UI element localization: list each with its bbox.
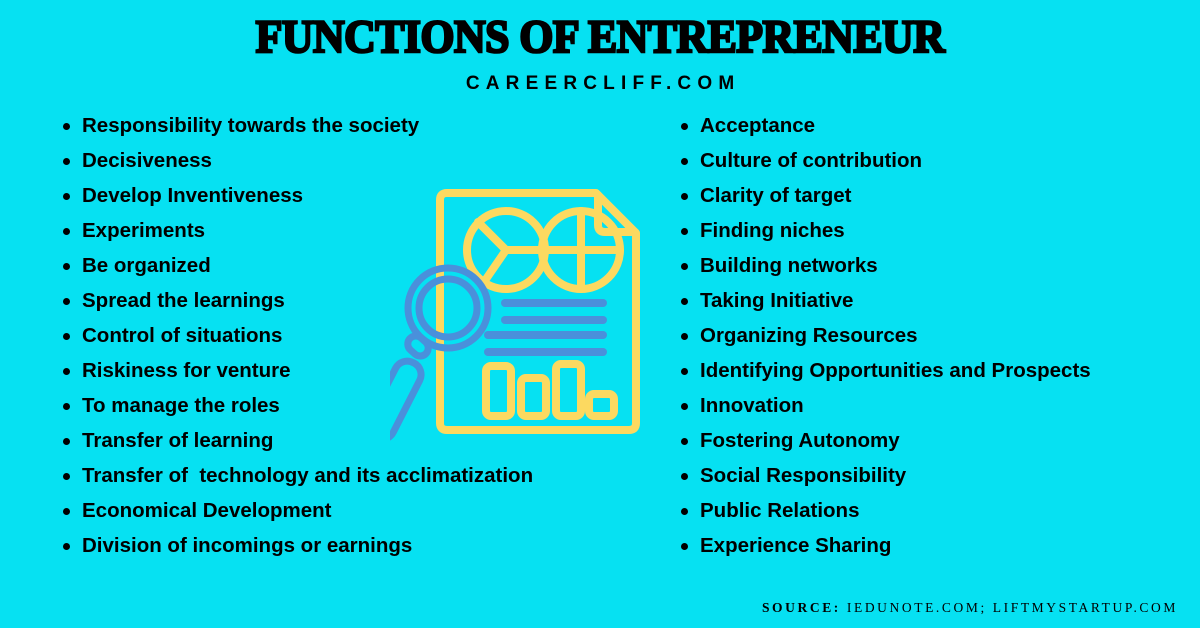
list-item: Clarity of target (680, 178, 1190, 213)
list-item: Fostering Autonomy (680, 423, 1190, 458)
list-item: Culture of contribution (680, 143, 1190, 178)
list-item: Finding niches (680, 213, 1190, 248)
list-item: Public Relations (680, 493, 1190, 528)
list-item: Transfer of technology and its acclimati… (62, 458, 662, 493)
list-item: Division of incomings or earnings (62, 528, 662, 563)
right-function-list: Acceptance Culture of contribution Clari… (680, 108, 1190, 563)
brand-subtitle: CAREERCLIFF.COM (0, 62, 1200, 95)
source-value: IEDUNOTE.COM; LIFTMYSTARTUP.COM (847, 600, 1178, 615)
bar-chart-icon (486, 364, 614, 416)
list-item: Organizing Resources (680, 318, 1190, 353)
source-label: SOURCE: (762, 600, 841, 615)
list-item: Responsibility towards the society (62, 108, 662, 143)
list-item: Social Responsibility (680, 458, 1190, 493)
right-column: Acceptance Culture of contribution Clari… (680, 108, 1190, 563)
source-footer: SOURCE: IEDUNOTE.COM; LIFTMYSTARTUP.COM (762, 600, 1178, 616)
list-item: Acceptance (680, 108, 1190, 143)
list-item: Building networks (680, 248, 1190, 283)
list-item: Taking Initiative (680, 283, 1190, 318)
list-item: Innovation (680, 388, 1190, 423)
page-title: FUNCTIONS OF ENTREPRENEUR (42, 0, 1158, 62)
list-item: Decisiveness (62, 143, 662, 178)
text-lines-icon (488, 303, 603, 352)
crosshair-target-icon (542, 211, 620, 289)
list-item: Economical Development (62, 493, 662, 528)
list-item: Identifying Opportunities and Prospects (680, 353, 1190, 388)
document-analysis-illustration (390, 175, 662, 447)
list-item: Experience Sharing (680, 528, 1190, 563)
header: FUNCTIONS OF ENTREPRENEUR CAREERCLIFF.CO… (0, 0, 1200, 95)
infographic-poster: FUNCTIONS OF ENTREPRENEUR CAREERCLIFF.CO… (0, 0, 1200, 628)
